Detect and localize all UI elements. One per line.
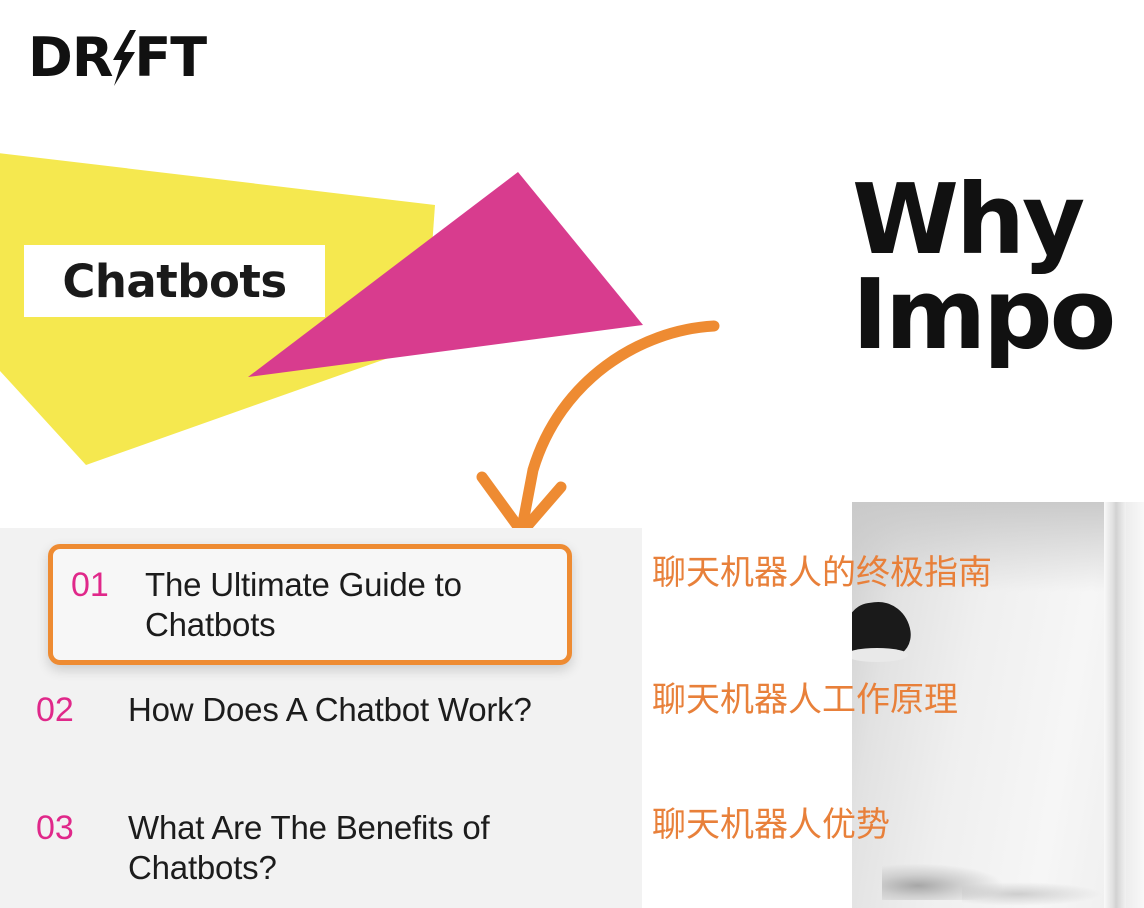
list-item-title: How Does A Chatbot Work?: [128, 690, 532, 730]
list-item-title: What Are The Benefits of Chatbots?: [128, 808, 576, 887]
list-item-number: 02: [36, 690, 128, 730]
chatbots-tag-label: Chatbots: [62, 259, 286, 304]
list-item[interactable]: 01 The Ultimate Guide to Chatbots: [48, 544, 572, 665]
page-title-line-2: Impo: [852, 267, 1144, 362]
slide-canvas: DR FT Chatbots Why Impo 01 The Ultimate …: [0, 0, 1144, 908]
logo-text-before: DR: [28, 31, 112, 85]
drift-logo[interactable]: DR FT: [28, 30, 206, 86]
list-item[interactable]: 03 What Are The Benefits of Chatbots?: [36, 808, 576, 887]
photo-bottom-detail-secondary: [962, 882, 1102, 906]
list-item[interactable]: 02 How Does A Chatbot Work?: [36, 690, 576, 730]
logo-text-after: FT: [134, 31, 206, 85]
photo-right-edge: [1126, 502, 1144, 908]
table-of-contents: 01 The Ultimate Guide to Chatbots 02 How…: [0, 528, 642, 908]
curved-arrow-icon: [482, 326, 714, 532]
list-item-number: 01: [71, 565, 145, 605]
photo-vertical-edge: [1104, 502, 1126, 908]
page-title: Why Impo: [852, 172, 1144, 362]
list-item-number: 03: [36, 808, 128, 848]
translation-text: 聊天机器人工作原理: [652, 680, 958, 721]
translation-text: 聊天机器人优势: [652, 805, 890, 846]
chatbots-tag: Chatbots: [24, 245, 325, 317]
lightning-bolt-icon: [110, 30, 136, 86]
page-title-line-1: Why: [852, 172, 1144, 267]
list-item-title: The Ultimate Guide to Chatbots: [145, 565, 553, 644]
translation-text: 聊天机器人的终极指南: [652, 553, 992, 594]
